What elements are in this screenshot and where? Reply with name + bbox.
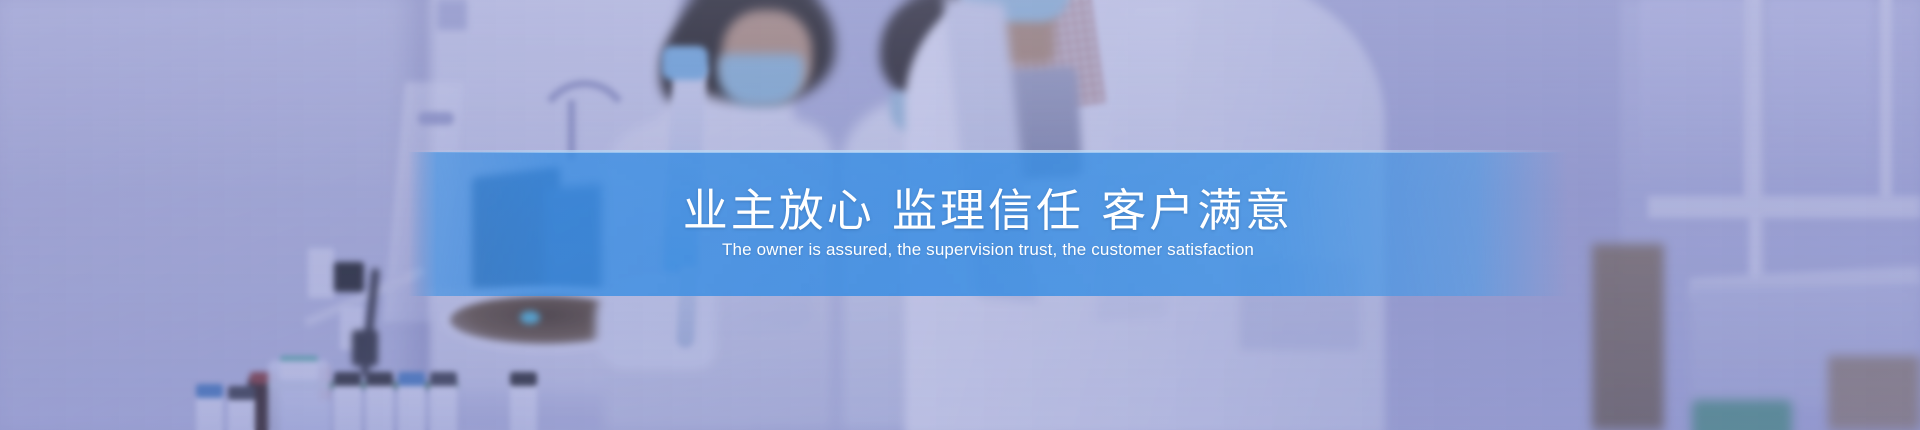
slogan-banner-text-group: 业主放心 监理信任 客户满意 The owner is assured, the… bbox=[408, 152, 1568, 296]
slogan-english: The owner is assured, the supervision tr… bbox=[722, 240, 1254, 260]
hero-banner: 业主放心 监理信任 客户满意 The owner is assured, the… bbox=[0, 0, 1920, 430]
slogan-chinese: 业主放心 监理信任 客户满意 bbox=[683, 188, 1294, 234]
